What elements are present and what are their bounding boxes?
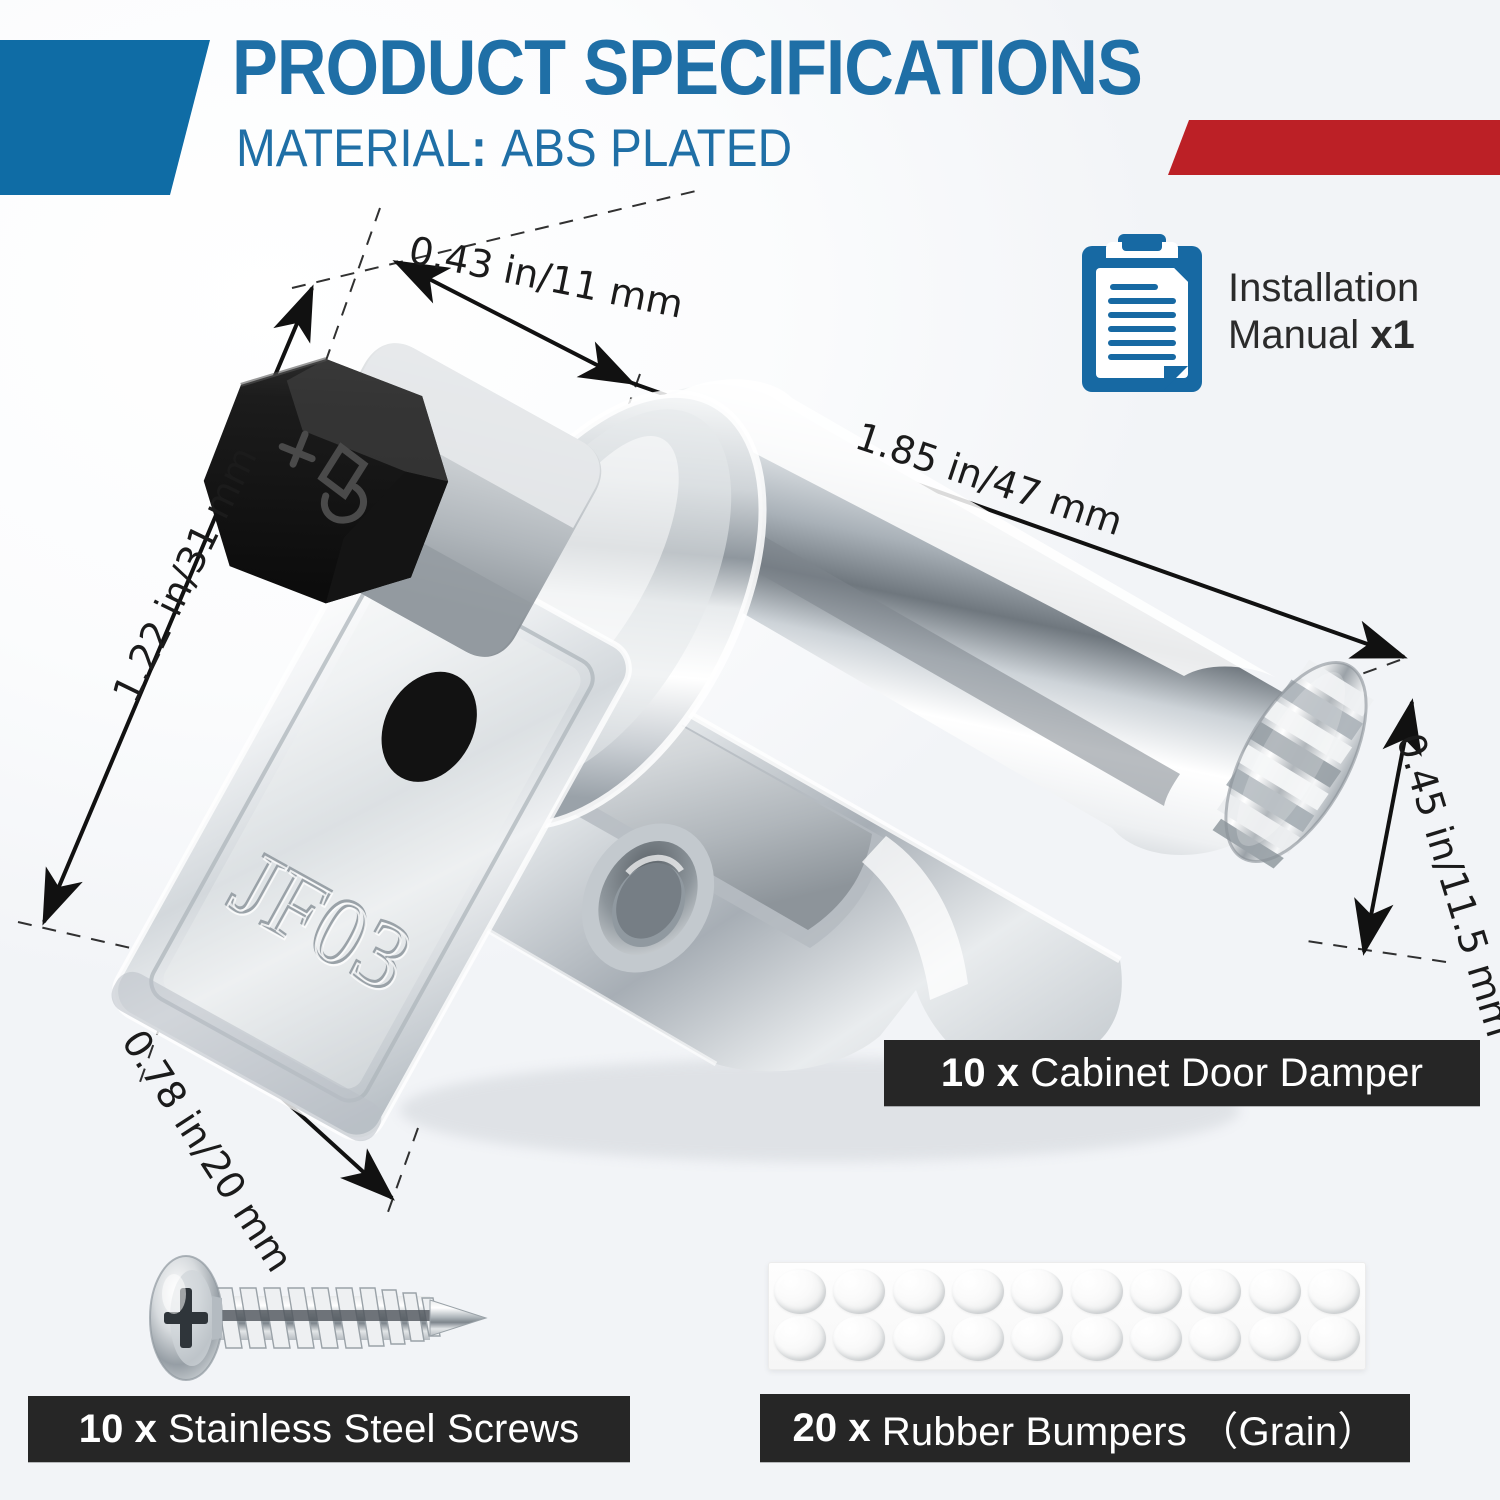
rubber-bumper <box>833 1316 885 1361</box>
rubber-bumper <box>893 1269 945 1314</box>
bumper-row <box>774 1269 1360 1316</box>
manual-line-2: Manual <box>1228 313 1370 357</box>
badge-damper-label: Cabinet Door Damper <box>1030 1051 1423 1096</box>
badge-screws-count: 10 <box>79 1407 124 1452</box>
material-value: ABS PLATED <box>501 119 792 178</box>
material-label: MATERIAL <box>236 119 471 178</box>
dimension-label-height: 1.22 in/31 mm <box>104 440 266 710</box>
rubber-bumper <box>1249 1269 1301 1314</box>
installation-manual-text: Installation Manual x1 <box>1228 265 1419 359</box>
badge-screws-x: x <box>135 1407 157 1452</box>
rubber-bumper <box>1189 1269 1241 1314</box>
manual-count: x1 <box>1370 313 1415 357</box>
badge-bumpers-label: Rubber Bumpers （Grain） <box>882 1399 1378 1457</box>
clipboard-icon <box>1078 228 1206 396</box>
material-colon: : <box>471 119 487 178</box>
dimension-label-width-depth: 0.43 in/11 mm <box>405 228 687 327</box>
badge-damper-count: 10 <box>941 1051 986 1096</box>
dimension-label-plate-width: 0.78 in/20 mm <box>113 1022 302 1280</box>
header-blue-accent-shape <box>0 40 210 195</box>
rubber-bumper <box>952 1269 1004 1314</box>
rubber-bumper <box>1189 1316 1241 1361</box>
badge-damper-x: x <box>997 1051 1019 1096</box>
rubber-bumper <box>1308 1269 1360 1314</box>
dimension-label-cap-diameter: 0.45 in/11.5 mm <box>1388 728 1500 1042</box>
rubber-bumper <box>774 1316 826 1361</box>
rubber-bumper <box>1130 1316 1182 1361</box>
rubber-bumper <box>774 1269 826 1314</box>
rubber-bumper-sheet <box>768 1262 1366 1370</box>
rubber-bumper <box>1249 1316 1301 1361</box>
rubber-bumper <box>1071 1269 1123 1314</box>
rubber-bumper <box>1130 1269 1182 1314</box>
page-title: PRODUCT SPECIFICATIONS <box>232 22 1142 113</box>
stainless-steel-screw-image <box>130 1248 530 1388</box>
header-red-accent-bar <box>1168 120 1500 175</box>
installation-manual-item: Installation Manual x1 <box>1078 228 1419 396</box>
product-emboss-text: JF03 <box>214 828 429 1012</box>
dimension-label-length: 1.85 in/47 mm <box>850 414 1128 544</box>
manual-line-2-wrap: Manual x1 <box>1228 312 1419 359</box>
rubber-bumper <box>833 1269 885 1314</box>
badge-cabinet-door-damper: 10 x Cabinet Door Damper <box>884 1040 1480 1106</box>
badge-bumpers-x: x <box>848 1406 870 1451</box>
bumper-row <box>774 1316 1360 1363</box>
rubber-bumper <box>952 1316 1004 1361</box>
badge-screws-label: Stainless Steel Screws <box>168 1407 579 1452</box>
badge-bumpers-count: 20 <box>792 1406 837 1451</box>
rubber-bumper <box>1308 1316 1360 1361</box>
svg-text:JF03: JF03 <box>215 831 430 1015</box>
rubber-bumper <box>1011 1269 1063 1314</box>
badge-stainless-steel-screws: 10 x Stainless Steel Screws <box>28 1396 630 1462</box>
material-subtitle: MATERIAL:ABS PLATED <box>236 118 792 179</box>
product-spec-page: PRODUCT SPECIFICATIONS MATERIAL:ABS PLAT… <box>0 0 1500 1500</box>
rubber-bumper <box>1011 1316 1063 1361</box>
rubber-bumper <box>1071 1316 1123 1361</box>
badge-rubber-bumpers: 20 x Rubber Bumpers （Grain） <box>760 1394 1410 1462</box>
manual-line-1: Installation <box>1228 265 1419 312</box>
rubber-bumper <box>893 1316 945 1361</box>
